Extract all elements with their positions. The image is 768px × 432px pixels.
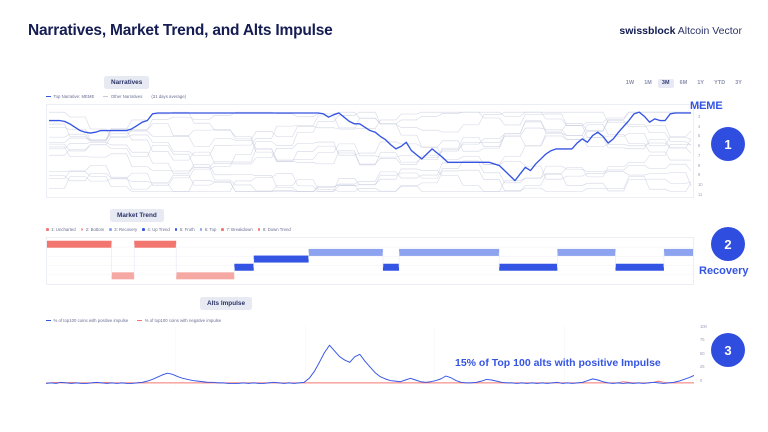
range-button-3y[interactable]: 3Y [731,79,746,88]
alts-y-tick: 25 [700,365,707,369]
narratives-other-line [49,112,691,185]
alts-y-tick: 50 [700,352,707,356]
alts-impulse-chart[interactable] [46,326,694,386]
legend-label: 3: Recovery [114,227,137,232]
narratives-other-line [49,112,691,141]
narratives-chip: Narratives [104,76,149,89]
market-trend-chart[interactable] [46,237,694,285]
market-trend-segment[interactable] [309,249,383,256]
narratives-y-tick: 10 [698,183,703,187]
narratives-y-tick: 8 [698,164,703,168]
brand-product: Altcoin Vector [675,25,742,37]
legend-dash-icon [46,96,51,97]
legend-dot-icon [81,228,84,231]
market-trend-segment[interactable] [234,264,253,271]
legend-dot-icon [258,228,261,231]
legend-label: 6: Top [205,227,217,232]
range-button-ytd[interactable]: YTD [710,79,729,88]
alts-impulse-legend: % of top100 coins with positive impulse%… [46,318,221,323]
range-button-6m[interactable]: 6M [676,79,692,88]
market-trend-legend-item[interactable]: 5: Froth [175,227,195,232]
market-trend-segment[interactable] [499,264,557,271]
market-trend-legend-item[interactable]: 1: Uncharted [46,227,76,232]
narratives-legend-item[interactable]: (31 days average) [151,94,186,99]
alts-impulse-plot-svg [46,326,694,386]
market-trend-segment[interactable] [176,272,234,279]
narratives-other-line [49,164,691,191]
legend-label: Top Narrative: MEME [54,94,95,99]
narratives-legend: Top Narrative: MEMEOther Narratives(31 d… [46,94,186,99]
market-trend-legend-item[interactable]: 6: Top [200,227,217,232]
alts-impulse-y-axis: 1007550250 [700,325,707,383]
market-trend-legend-item[interactable]: 3: Recovery [109,227,137,232]
alts-impulse-legend-item[interactable]: % of top100 coins with negative impulse [137,318,221,323]
narratives-chart[interactable] [46,104,694,198]
market-trend-legend-item[interactable]: 2: Bottom [81,227,104,232]
legend-dot-icon [142,228,145,231]
market-trend-legend-item[interactable]: 4: Up Trend [142,227,170,232]
legend-dash-icon [137,320,142,321]
market-trend-legend-item[interactable]: 8: Down Trend [258,227,291,232]
brand-name: swissblock [619,25,675,37]
narratives-other-line [49,121,691,167]
badge-1[interactable]: 1 [711,127,745,161]
alts-impulse-annotation: 15% of Top 100 alts with positive Impuls… [455,357,661,369]
legend-dot-icon [200,228,203,231]
badge-3[interactable]: 3 [711,333,745,367]
narratives-y-tick: 4 [698,125,703,129]
alts-y-tick: 100 [700,325,707,329]
narratives-y-tick: 5 [698,134,703,138]
market-trend-segment[interactable] [399,249,499,256]
range-button-3m[interactable]: 3M [658,79,674,88]
narratives-other-line [49,112,691,146]
legend-dash-icon [103,96,108,97]
narratives-y-tick: 6 [698,144,703,148]
time-range-selector[interactable]: 1W1M3M6M1YYTD3Y [622,79,746,88]
legend-dash-icon [46,320,51,321]
market-trend-segment[interactable] [47,241,112,248]
alts-y-tick: 0 [700,379,707,383]
range-button-1m[interactable]: 1M [640,79,656,88]
narratives-y-axis: 234567891011 [698,105,703,197]
alts-y-tick: 75 [700,338,707,342]
market-trend-legend: 1: Uncharted2: Bottom3: Recovery4: Up Tr… [46,227,291,232]
market-trend-chip: Market Trend [110,209,164,222]
page-title: Narratives, Market Trend, and Alts Impul… [28,22,333,40]
market-trend-segment[interactable] [112,272,135,279]
narratives-legend-item[interactable]: Top Narrative: MEME [46,94,94,99]
narratives-y-tick: 11 [698,193,703,197]
badge-2[interactable]: 2 [711,227,745,261]
market-trend-plot-svg [47,238,693,284]
legend-label: Other Narratives [111,94,143,99]
brand-logo: swissblock Altcoin Vector [619,25,742,37]
narratives-other-line [49,142,691,191]
legend-label: 2: Bottom [86,227,104,232]
alts-impulse-legend-item[interactable]: % of top100 coins with positive impulse [46,318,128,323]
market-trend-segment[interactable] [383,264,399,271]
legend-label: 7: Breakdown [227,227,253,232]
legend-label: 5: Froth [180,227,195,232]
narratives-plot-svg [47,105,693,197]
range-button-1y[interactable]: 1Y [693,79,708,88]
legend-dot-icon [109,228,112,231]
narratives-annotation: MEME [690,100,723,112]
range-button-1w[interactable]: 1W [622,79,638,88]
legend-label: % of top100 coins with negative impulse [145,318,221,323]
market-trend-segment[interactable] [134,241,176,248]
market-trend-annotation: Recovery [699,265,749,277]
legend-dot-icon [221,228,224,231]
market-trend-segment[interactable] [615,264,663,271]
dashboard-root: Narratives, Market Trend, and Alts Impul… [0,0,768,432]
narratives-y-tick: 3 [698,115,703,119]
narratives-legend-item[interactable]: Other Narratives [103,94,142,99]
legend-label: (31 days average) [151,94,186,99]
alts-impulse-chip: Alts Impulse [200,297,252,310]
market-trend-segment[interactable] [254,256,309,263]
narratives-y-tick: 9 [698,173,703,177]
market-trend-segment[interactable] [664,249,693,256]
market-trend-segment[interactable] [557,249,615,256]
legend-dot-icon [175,228,178,231]
legend-label: 4: Up Trend [147,227,169,232]
legend-dot-icon [46,228,49,231]
narratives-y-tick: 7 [698,154,703,158]
legend-label: 1: Uncharted [51,227,76,232]
market-trend-legend-item[interactable]: 7: Breakdown [221,227,252,232]
narratives-other-line [49,161,691,192]
narratives-other-line [49,130,691,164]
legend-label: % of top100 coins with positive impulse [54,318,129,323]
legend-label: 8: Down Trend [263,227,291,232]
